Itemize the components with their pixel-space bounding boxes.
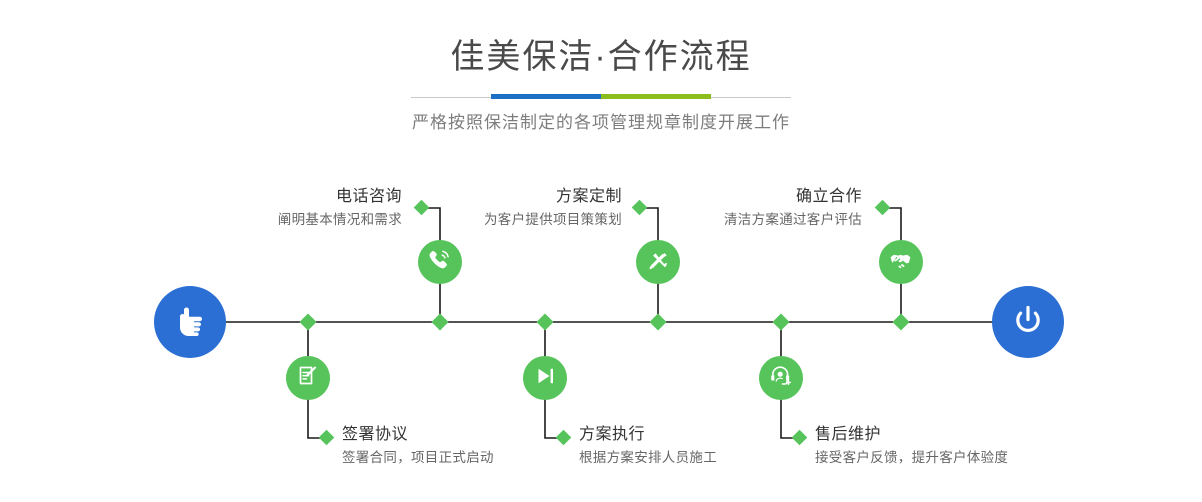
phone-call-icon bbox=[427, 247, 453, 278]
pointing-hand-icon bbox=[170, 300, 210, 345]
step-title-5: 确立合作 bbox=[480, 186, 862, 208]
power-icon bbox=[1008, 300, 1048, 345]
step-icon-2[interactable] bbox=[286, 356, 330, 400]
flow-start-node[interactable] bbox=[154, 286, 226, 358]
headset-support-icon bbox=[768, 363, 794, 394]
step-icon-6[interactable] bbox=[759, 356, 803, 400]
play-forward-icon bbox=[532, 363, 558, 394]
step-icon-4[interactable] bbox=[523, 356, 567, 400]
process-flow-diagram: 电话咨询 阐明基本情况和需求 方案定制 为客户提供项目策策划 bbox=[0, 0, 1202, 502]
pencil-edit-icon bbox=[645, 247, 671, 278]
step-icon-1[interactable] bbox=[418, 240, 462, 284]
step-label-6: 售后维护 接受客户反馈，提升客户体验度 bbox=[815, 424, 1202, 468]
step-title-6: 售后维护 bbox=[815, 424, 1202, 446]
step-label-5: 确立合作 清洁方案通过客户评估 bbox=[480, 186, 862, 230]
flow-end-node[interactable] bbox=[992, 286, 1064, 358]
handshake-icon bbox=[888, 247, 914, 278]
step-icon-3[interactable] bbox=[636, 240, 680, 284]
document-sign-icon bbox=[295, 363, 321, 394]
step-icon-5[interactable] bbox=[879, 240, 923, 284]
step-desc-5: 清洁方案通过客户评估 bbox=[480, 210, 862, 230]
step-desc-6: 接受客户反馈，提升客户体验度 bbox=[815, 448, 1202, 468]
